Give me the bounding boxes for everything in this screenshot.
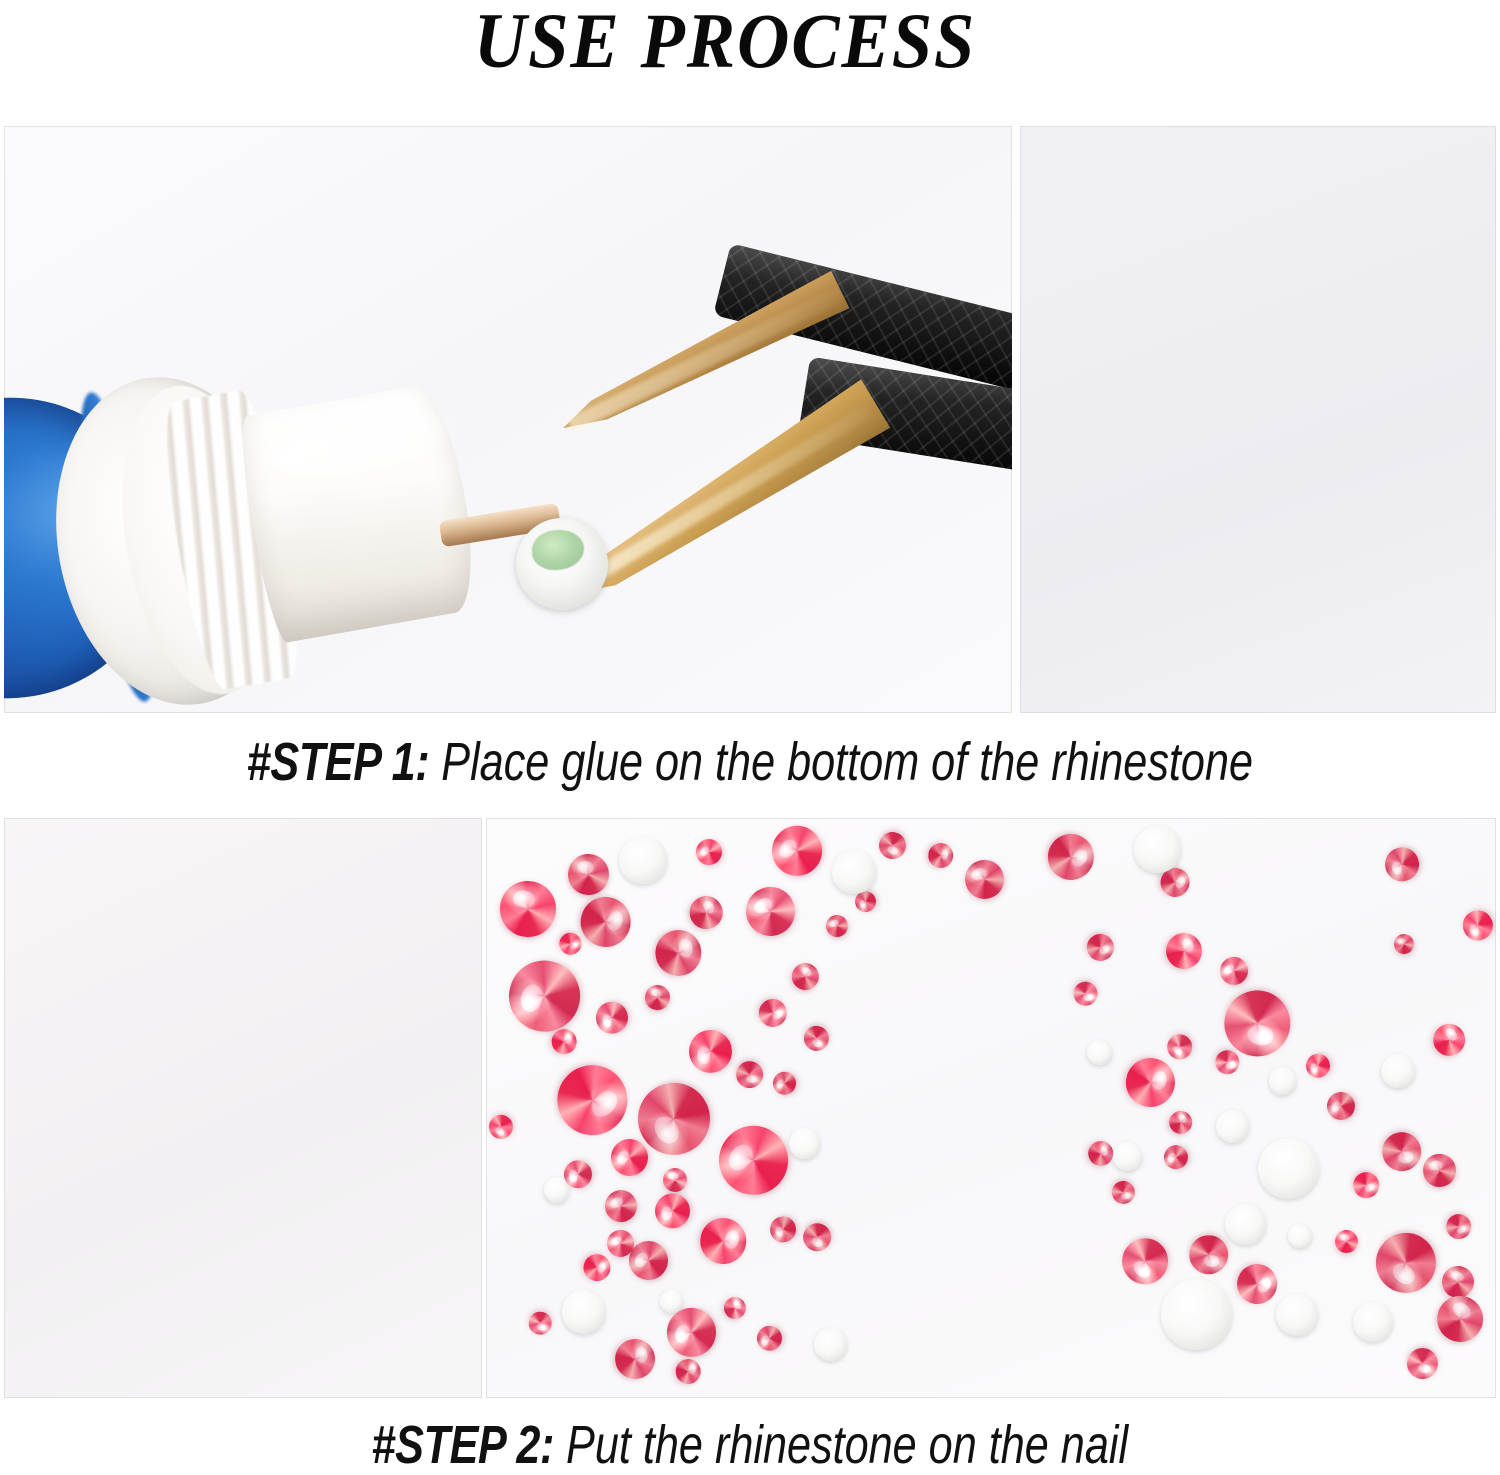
rhinestone-loose [574,890,637,953]
rhinestone-back-loose [1087,1040,1112,1065]
rhinestone-loose [1112,1229,1177,1294]
rhinestone-loose [822,912,851,941]
rhinestone-loose [1426,1017,1472,1063]
rhinestone-loose [1348,1167,1384,1203]
rhinestone-loose [643,982,672,1011]
rhinestone-loose [875,828,909,862]
rhinestone-loose [1082,929,1120,967]
rhinestone-back-loose [1113,1142,1142,1171]
rhinestone-loose [695,1213,751,1269]
rhinestone-loose [720,1293,750,1323]
rhinestone-loose [762,818,832,886]
rhinestone-loose [486,1110,518,1143]
rhinestone-loose [1381,843,1423,885]
rhinestone-loose [1457,905,1496,945]
rhinestone-back-loose [1276,1294,1318,1336]
rhinestone-loose [1364,1220,1448,1304]
rhinestone-loose [1406,1348,1439,1381]
rhinestone-loose [1085,1138,1117,1170]
rhinestone-back-loose [814,1328,847,1361]
rhinestone-back-loose [1225,1204,1267,1246]
rhinestone-back-loose [789,1128,821,1160]
rhinestone-loose [753,993,792,1032]
rhinestone-loose [1421,1152,1458,1189]
rhinestone-loose [1428,1287,1492,1351]
rhinestone-back-loose [1381,1054,1415,1088]
rhinestone-loose [1303,1051,1332,1080]
rhinestone-loose [675,1358,702,1385]
rhinestone-loose [756,1325,782,1351]
rhinestone-loose [771,1070,798,1097]
page-title: USE PROCESS [51,2,1400,80]
rhinestone-loose [798,1218,835,1255]
rhinestone-back-loose [562,1290,606,1334]
rhinestone-loose [705,1112,801,1208]
rhinestone-loose [528,1311,552,1335]
rhinestone-loose [663,1167,688,1192]
photo-glue-closeup [1020,126,1496,713]
step-2-label: #STEP 2: [372,1415,554,1475]
rhinestone-loose [1072,979,1101,1008]
rhinestone-loose [579,1250,615,1286]
step-2-caption: #STEP 2: Put the rhinestone on the nail [0,1418,1500,1472]
rhinestone-loose [501,953,587,1039]
rhinestone-loose [1334,1229,1358,1253]
rhinestone-loose [1441,1209,1475,1243]
rhinestone-loose [684,889,729,934]
rhinestone-loose [542,1050,641,1149]
tweezer-arm-lower-sheen [582,405,872,587]
rhinestone-back-loose [1288,1224,1312,1248]
rhinestone-loose [599,1184,643,1228]
rhinestone-back-loose [1161,1279,1232,1350]
rhinestone-loose [497,879,558,940]
rhinestone-loose [1159,926,1209,976]
step-2-text: Put the rhinestone on the nail [554,1415,1128,1475]
rhinestone-loose [738,878,804,944]
rhinestone-back-loose [1258,1138,1319,1199]
rhinestone-loose [593,1000,630,1037]
rhinestone-loose [1039,825,1103,889]
rhinestone-loose [1214,951,1253,990]
rhinestone-loose [1230,1257,1285,1312]
rhinestone-loose [567,853,610,896]
rhinestone-back-loose [1134,826,1180,872]
rhinestone-loose [768,1213,799,1244]
rhinestone-back-loose [832,850,876,894]
rhinestone-back-loose [1353,1302,1393,1342]
rhinestone-loose [564,1160,592,1188]
rhinestone-loose [1189,1235,1228,1274]
rhinestone-loose [612,1336,658,1382]
rhinestone-loose [654,1192,691,1229]
rhinestone-loose [1324,1089,1359,1124]
rhinestone-loose [1121,1053,1179,1111]
rhinestone-loose [691,834,727,870]
step-1-text: Place glue on the bottom of the rhinesto… [429,732,1253,792]
rhinestone-loose [1392,932,1415,955]
photo-rhinestones-scatter [486,818,1496,1398]
rhinestone-loose [651,926,705,980]
rhinestone-loose [786,958,823,995]
rhinestone-loose [550,1026,579,1055]
photo-glue-applying [4,126,1012,713]
rhinestone-back-loose [619,837,667,885]
rhinestone-loose [1162,1029,1198,1065]
rhinestone-loose [735,1060,763,1088]
rhinestone-loose [1109,1179,1137,1207]
rhinestone-loose [1379,1128,1425,1174]
step-1-caption: #STEP 1: Place glue on the bottom of the… [0,735,1500,789]
rhinestone-back-loose [1216,1110,1249,1143]
rhinestone-loose [959,855,1008,904]
rhinestone-loose [1164,1107,1197,1140]
rhinestone-loose [801,1024,831,1054]
rhinestone-back-loose [1269,1067,1297,1095]
rhinestone-loose [555,928,585,958]
step-1-label: #STEP 1: [247,732,429,792]
photo-nail-decorated [4,818,482,1398]
rhinestone-loose [927,842,955,870]
rhinestone-loose [688,1029,734,1075]
rhinestone-loose [1161,1142,1191,1172]
